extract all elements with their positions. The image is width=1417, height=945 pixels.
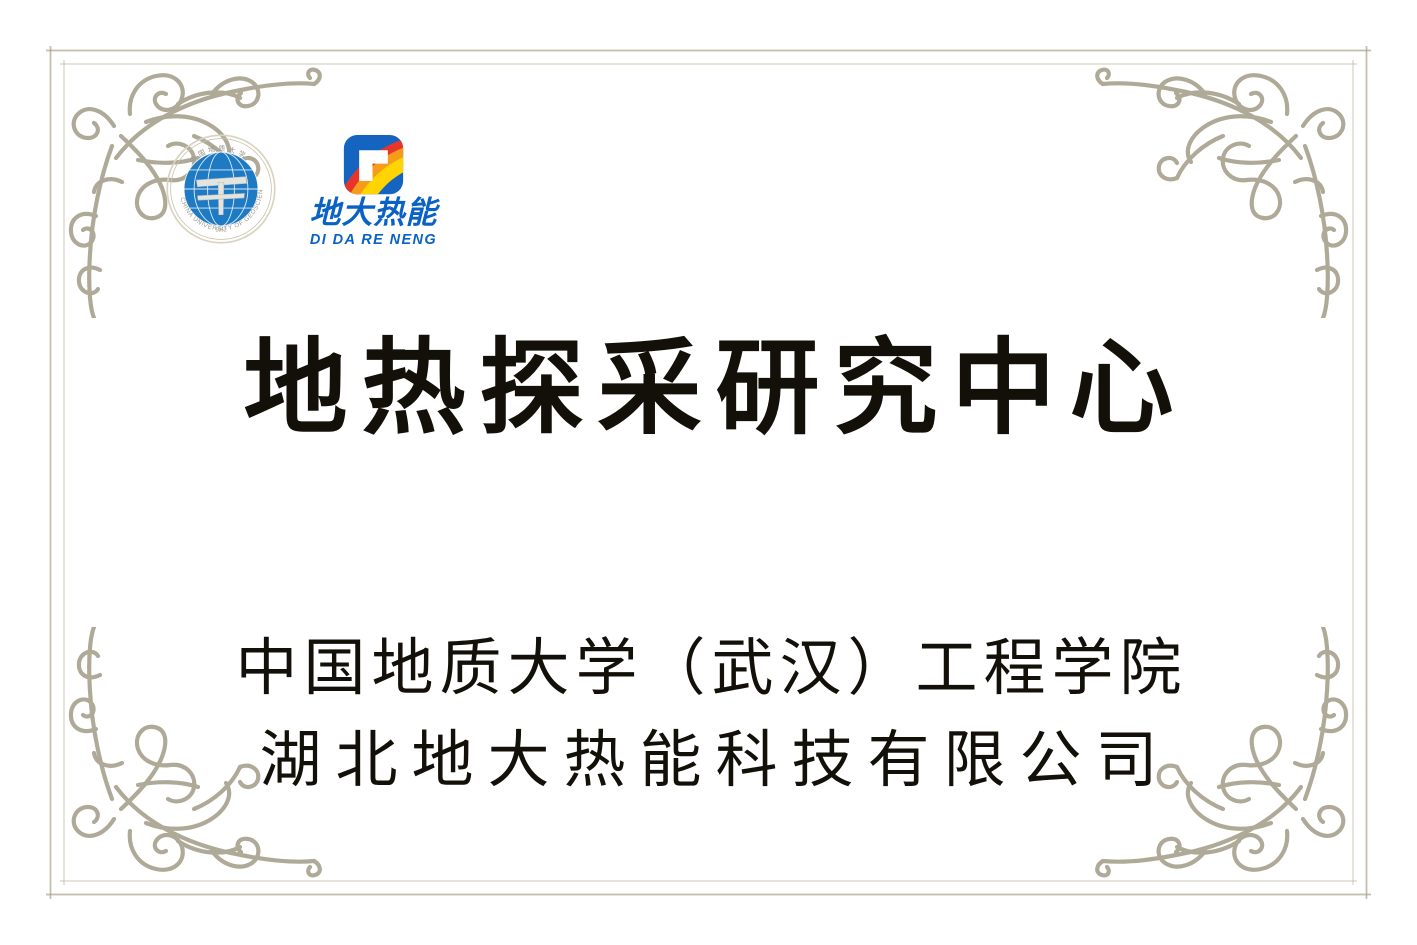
border-line-bottom-outer bbox=[46, 893, 1371, 896]
corner-flourish-top-right-icon bbox=[1091, 18, 1391, 318]
company-logo-english: DI DA RE NENG bbox=[310, 233, 437, 248]
award-plaque: 中国地质大学 CHINA UNIVERSITY OF GEOSCIENCES 1… bbox=[0, 0, 1417, 945]
company-logo-chinese: 地大热能 bbox=[310, 198, 438, 229]
svg-text:1952: 1952 bbox=[215, 228, 226, 234]
border-line-top-outer bbox=[46, 49, 1371, 52]
logo-group: 中国地质大学 CHINA UNIVERSITY OF GEOSCIENCES 1… bbox=[165, 133, 446, 249]
subtitle-line-2: 湖北地大热能科技有限公司 bbox=[0, 714, 1417, 806]
plaque-title: 地热探采研究中心 bbox=[0, 330, 1417, 446]
university-seal-logo: 中国地质大学 CHINA UNIVERSITY OF GEOSCIENCES 1… bbox=[165, 133, 277, 249]
subtitle-line-1: 中国地质大学（武汉）工程学院 bbox=[0, 622, 1417, 714]
cug-seal-icon: 中国地质大学 CHINA UNIVERSITY OF GEOSCIENCES 1… bbox=[165, 133, 277, 245]
border-line-bottom-inner bbox=[60, 880, 1357, 882]
border-line-top-inner bbox=[60, 63, 1357, 65]
company-logo: 地大热能 DI DA RE NENG bbox=[301, 135, 446, 248]
didareneng-mark-icon bbox=[301, 135, 446, 200]
plaque-subtitle: 中国地质大学（武汉）工程学院 湖北地大热能科技有限公司 bbox=[0, 622, 1417, 806]
